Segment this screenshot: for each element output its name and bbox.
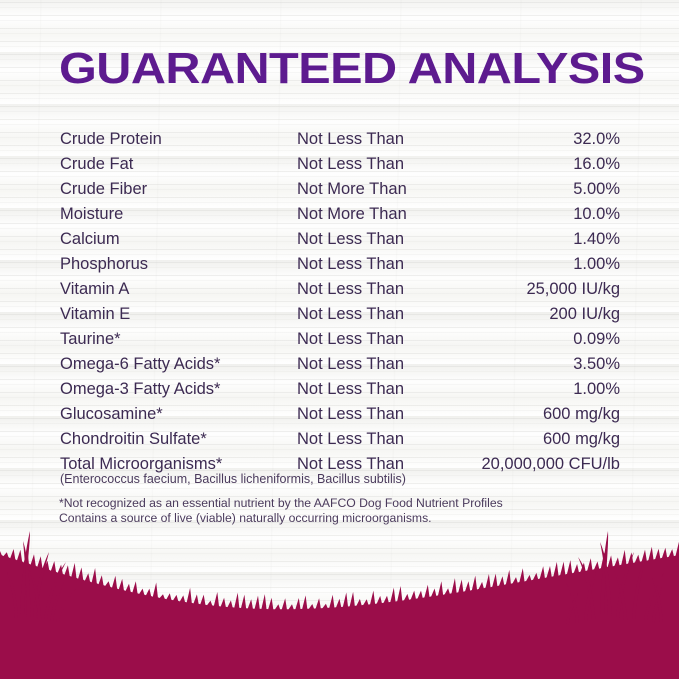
table-row: Omega-3 Fatty Acids*Not Less Than1.00% [0,377,679,402]
page-title: GUARANTEED ANALYSIS [59,46,645,92]
nutrient-qualifier: Not Less Than [297,127,404,152]
table-row: Omega-6 Fatty Acids*Not Less Than3.50% [0,352,679,377]
table-row: Vitamin ENot Less Than200 IU/kg [0,302,679,327]
table-row: PhosphorusNot Less Than1.00% [0,252,679,277]
nutrient-value: 5.00% [573,177,620,202]
nutrient-qualifier: Not Less Than [297,427,404,452]
nutrient-qualifier: Not Less Than [297,277,404,302]
nutrient-value: 0.09% [573,327,620,352]
nutrient-value: 32.0% [573,127,620,152]
grass-silhouette [0,519,679,679]
nutrient-name: Crude Fat [60,152,133,177]
nutrient-name: Chondroitin Sulfate* [60,427,207,452]
nutrient-value: 1.40% [573,227,620,252]
nutrient-value: 3.50% [573,352,620,377]
footnote-line-2: Contains a source of live (viable) natur… [59,511,503,526]
nutrient-qualifier: Not Less Than [297,302,404,327]
footnote-line-1: *Not recognized as an essential nutrient… [59,496,503,511]
table-row: Crude FiberNot More Than5.00% [0,177,679,202]
table-row: Chondroitin Sulfate*Not Less Than600 mg/… [0,427,679,452]
table-row: CalciumNot Less Than1.40% [0,227,679,252]
nutrient-name: Taurine* [60,327,121,352]
nutrient-qualifier: Not Less Than [297,152,404,177]
nutrient-value: 16.0% [573,152,620,177]
footnotes: *Not recognized as an essential nutrient… [59,496,503,526]
nutrient-name: Crude Protein [60,127,162,152]
nutrient-value: 1.00% [573,377,620,402]
guaranteed-analysis-panel: GUARANTEED ANALYSIS Crude ProteinNot Les… [0,0,679,679]
nutrient-qualifier: Not More Than [297,177,407,202]
nutrient-value: 25,000 IU/kg [526,277,620,302]
nutrient-name: Omega-6 Fatty Acids* [60,352,220,377]
nutrient-name: Phosphorus [60,252,148,277]
nutrient-qualifier: Not Less Than [297,327,404,352]
nutrient-qualifier: Not Less Than [297,352,404,377]
nutrient-value: 20,000,000 CFU/lb [481,452,620,477]
nutrient-name: Omega-3 Fatty Acids* [60,377,220,402]
nutrient-qualifier: Not Less Than [297,377,404,402]
table-row: Crude FatNot Less Than16.0% [0,152,679,177]
guaranteed-analysis-table: Crude ProteinNot Less Than32.0%Crude Fat… [0,127,679,477]
nutrient-value: 10.0% [573,202,620,227]
nutrient-name: Calcium [60,227,120,252]
nutrient-qualifier: Not Less Than [297,227,404,252]
nutrient-qualifier: Not Less Than [297,402,404,427]
table-row: MoistureNot More Than10.0% [0,202,679,227]
nutrient-value: 1.00% [573,252,620,277]
nutrient-name: Vitamin A [60,277,129,302]
nutrient-value: 600 mg/kg [543,402,620,427]
nutrient-name: Moisture [60,202,123,227]
nutrient-qualifier: Not More Than [297,202,407,227]
table-row: Crude ProteinNot Less Than32.0% [0,127,679,152]
nutrient-name: Glucosamine* [60,402,163,427]
nutrient-name: Crude Fiber [60,177,147,202]
nutrient-value: 200 IU/kg [549,302,620,327]
nutrient-name: Vitamin E [60,302,130,327]
nutrient-qualifier: Not Less Than [297,252,404,277]
table-row: Taurine*Not Less Than0.09% [0,327,679,352]
nutrient-value: 600 mg/kg [543,427,620,452]
table-row: Glucosamine*Not Less Than600 mg/kg [0,402,679,427]
table-row: Vitamin ANot Less Than25,000 IU/kg [0,277,679,302]
microorganism-strain-note: (Enterococcus faecium, Bacillus lichenif… [60,471,406,487]
